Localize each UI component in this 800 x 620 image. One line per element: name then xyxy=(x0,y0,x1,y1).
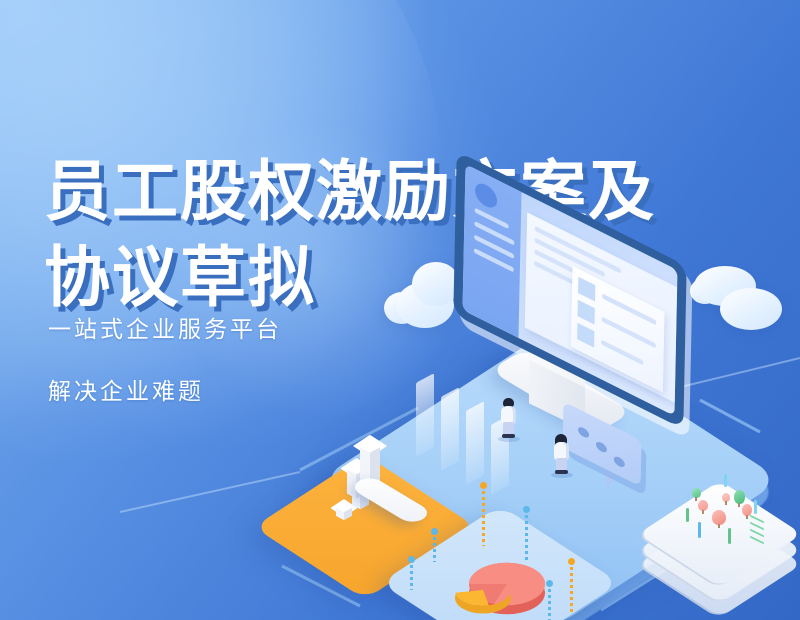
desktop-monitor xyxy=(455,205,725,435)
chat-dot xyxy=(578,425,589,439)
dot-marker-blue-4 xyxy=(410,556,413,590)
app-sidebar-panel xyxy=(462,164,521,338)
bar-3d-4 xyxy=(360,442,380,457)
checkbox-square xyxy=(578,300,595,325)
feet xyxy=(555,470,568,474)
dot-marker-orange-2 xyxy=(570,558,573,614)
chat-bubble-icon xyxy=(563,420,653,494)
platform-slab-1 xyxy=(416,373,434,457)
avatar xyxy=(475,180,497,212)
bar-3d-1 xyxy=(336,504,352,514)
checkbox-square xyxy=(578,277,595,302)
dot-marker-blue-2 xyxy=(548,580,551,620)
doc-text-line xyxy=(601,340,643,366)
chat-dot xyxy=(596,440,607,454)
dot-marker-blue-3 xyxy=(433,528,436,562)
person-standing-male xyxy=(500,398,518,438)
checkbox-square xyxy=(577,323,594,348)
cube-accent-blue xyxy=(724,474,727,487)
promo-banner: 员工股权激励方案及 协议草拟 一站式企业服务平台 解决企业难题 xyxy=(0,0,800,620)
chat-dot xyxy=(614,455,625,469)
stacked-server-cube xyxy=(672,470,792,590)
person-standing-female xyxy=(553,434,571,474)
cube-accent-green xyxy=(686,508,689,522)
pie-slice-exploded xyxy=(455,574,511,605)
dot-marker-blue xyxy=(525,506,528,562)
dot-marker-orange xyxy=(482,482,485,546)
feet xyxy=(502,434,515,438)
cube-accent-blue xyxy=(754,500,757,514)
cube-accent-green xyxy=(728,528,731,544)
isometric-illustration xyxy=(0,0,800,620)
cube-accent-blue xyxy=(698,522,701,538)
doc-inner-card xyxy=(571,266,665,393)
isometric-pie-chart xyxy=(455,540,547,620)
